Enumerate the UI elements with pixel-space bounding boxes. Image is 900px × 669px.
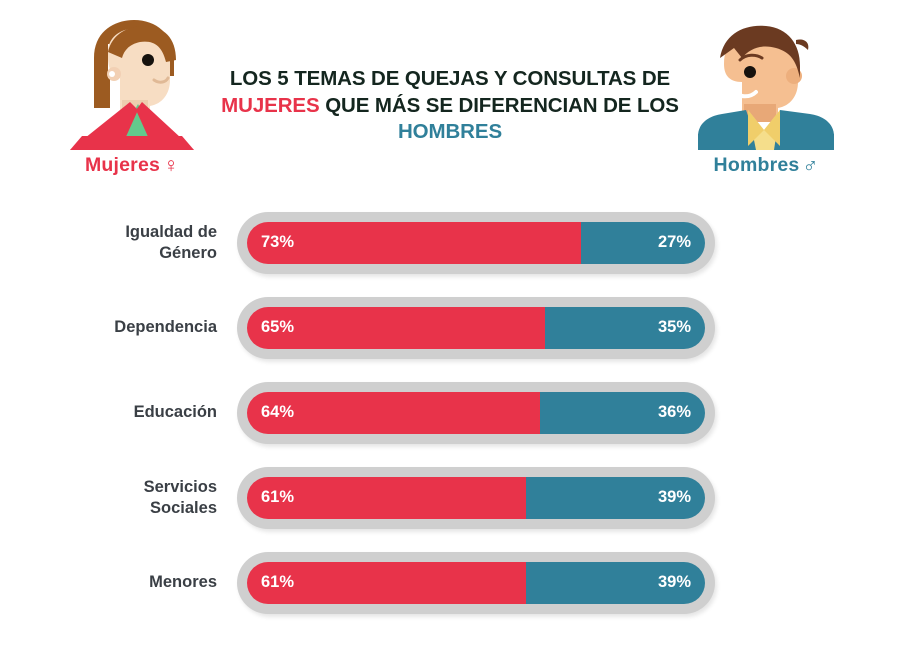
bar-segment-male: 39% bbox=[526, 562, 705, 604]
bar-track: 61%39% bbox=[237, 552, 715, 614]
bar-row-label-line2: Género bbox=[78, 243, 217, 264]
page-title: LOS 5 TEMAS DE QUEJAS Y CONSULTAS DE MUJ… bbox=[190, 66, 710, 146]
legend-female-text: Mujeres bbox=[85, 154, 160, 176]
title-line-3: HOMBRES bbox=[190, 119, 710, 146]
bar-segment-female: 73% bbox=[247, 222, 581, 264]
bar-value-female: 65% bbox=[261, 318, 294, 337]
bar-value-female: 64% bbox=[261, 403, 294, 422]
bar-row-label-line1: Dependencia bbox=[78, 317, 217, 338]
bar-row-label: ServiciosSociales bbox=[78, 477, 223, 519]
legend-female-label: Mujeres♀ bbox=[42, 154, 222, 178]
bar-value-male: 35% bbox=[658, 318, 691, 337]
bar-inner: 73%27% bbox=[247, 222, 705, 264]
bar-row-label-line1: Igualdad de bbox=[78, 222, 217, 243]
bar-inner: 65%35% bbox=[247, 307, 705, 349]
bar-track: 61%39% bbox=[237, 467, 715, 529]
bar-row-label-line2: Sociales bbox=[78, 498, 217, 519]
bar-segment-male: 39% bbox=[526, 477, 705, 519]
bar-segment-male: 36% bbox=[540, 392, 705, 434]
bar-value-male: 39% bbox=[658, 573, 691, 592]
bar-segment-female: 64% bbox=[247, 392, 540, 434]
bar-value-female: 61% bbox=[261, 573, 294, 592]
legend-male-label: Hombres♂ bbox=[676, 154, 856, 178]
bar-inner: 61%39% bbox=[247, 562, 705, 604]
bar-row-label: Menores bbox=[78, 572, 223, 593]
bar-row-label: Igualdad deGénero bbox=[78, 222, 223, 264]
title-highlight-mujeres: MUJERES bbox=[221, 94, 319, 117]
bar-segment-female: 65% bbox=[247, 307, 545, 349]
bar-value-male: 39% bbox=[658, 488, 691, 507]
bar-row: ServiciosSociales61%39% bbox=[0, 455, 900, 540]
bar-segment-male: 27% bbox=[581, 222, 705, 264]
bar-row-label: Educación bbox=[78, 402, 223, 423]
bar-row-label: Dependencia bbox=[78, 317, 223, 338]
bar-row-label-line1: Servicios bbox=[78, 477, 217, 498]
female-gender-icon: ♀ bbox=[160, 154, 179, 177]
title-line-1: LOS 5 TEMAS DE QUEJAS Y CONSULTAS DE bbox=[190, 66, 710, 93]
infographic-header: Mujeres♀ bbox=[0, 0, 900, 200]
bar-value-female: 73% bbox=[261, 233, 294, 252]
bar-row: Menores61%39% bbox=[0, 540, 900, 625]
bar-value-male: 36% bbox=[658, 403, 691, 422]
title-line-2-rest: QUE MÁS SE DIFERENCIAN DE LOS bbox=[320, 94, 679, 117]
bar-segment-male: 35% bbox=[545, 307, 705, 349]
bar-segment-female: 61% bbox=[247, 477, 526, 519]
bar-value-female: 61% bbox=[261, 488, 294, 507]
bar-segment-female: 61% bbox=[247, 562, 526, 604]
bar-track: 65%35% bbox=[237, 297, 715, 359]
bar-row: Dependencia65%35% bbox=[0, 285, 900, 370]
bar-inner: 61%39% bbox=[247, 477, 705, 519]
legend-male-text: Hombres bbox=[714, 154, 800, 176]
bar-track: 64%36% bbox=[237, 382, 715, 444]
male-gender-icon: ♂ bbox=[799, 154, 818, 177]
bar-row-label-line1: Menores bbox=[78, 572, 217, 593]
bar-row-label-line1: Educación bbox=[78, 402, 217, 423]
bar-value-male: 27% bbox=[658, 233, 691, 252]
bar-track: 73%27% bbox=[237, 212, 715, 274]
title-line-2: MUJERES QUE MÁS SE DIFERENCIAN DE LOS bbox=[190, 93, 710, 120]
stacked-bar-chart: Igualdad deGénero73%27%Dependencia65%35%… bbox=[0, 200, 900, 625]
bar-row: Educación64%36% bbox=[0, 370, 900, 455]
bar-inner: 64%36% bbox=[247, 392, 705, 434]
bar-row: Igualdad deGénero73%27% bbox=[0, 200, 900, 285]
